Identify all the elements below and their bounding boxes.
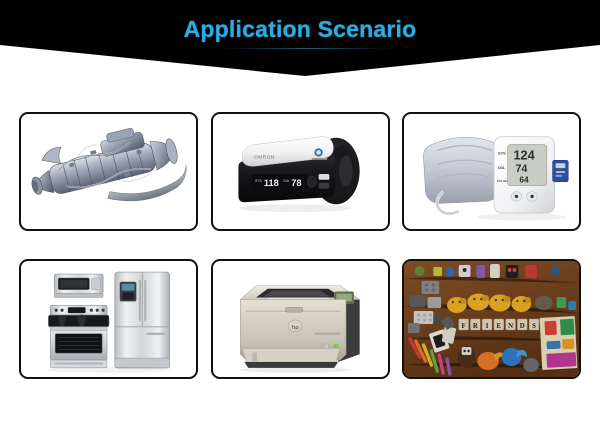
refrigerator [115,272,170,368]
cuff-diastolic-value: 74 [515,163,527,175]
cuff-systolic-value: 124 [513,148,534,162]
microwave [54,274,103,297]
cuff-pulse-value: 64 [519,175,529,185]
printer-front-door-handle[interactable] [285,307,303,312]
cuff-pulse-label: PULSE [497,179,507,183]
scenario-card-toys-and-games[interactable]: Toys and games [402,259,581,379]
omron-memory-button[interactable] [318,174,329,180]
arm-cuff-bp-monitor-image: SYS DIA PULSE 124 74 64 [404,114,579,229]
omron-sys-label: SYS [255,179,262,183]
scenario-card-kitchen-appliances[interactable]: Home appliances [19,259,198,379]
cuff-sys-label: SYS [498,150,506,155]
scenario-card-arm-cuff-monitor[interactable]: Digital arm cuff monitor [402,112,581,231]
title-underline-accent [222,48,394,49]
scenario-row-top: Gas turbine / aero engine [19,112,581,231]
hp-brand-label: hp [291,325,299,331]
cuff-side-button[interactable] [544,192,551,204]
cuff-dia-label: DIA [498,165,505,170]
kitchen-appliances-image [21,261,196,377]
omron-systolic-value: 118 [263,178,278,188]
omron-start-button[interactable] [307,176,316,187]
laser-printer-image: hp [213,261,388,377]
omron-dia-label: DIA [283,179,289,183]
scenario-card-laser-printer[interactable]: Laser printer [211,259,390,379]
gas-turbine-engine-image [21,114,196,229]
scenario-card-blood-pressure-monitor[interactable]: Blood pressure monitor [211,112,390,231]
omron-brand-label: OMRON [254,154,275,160]
scenario-grid: Gas turbine / aero engine [19,112,581,379]
scenario-row-bottom: Home appliances [19,259,581,379]
omron-secondary-button[interactable] [318,183,329,189]
omron-blood-pressure-monitor-image: OMRON SYS 118 DIA 78 [213,114,388,229]
toys-and-games-image: F R I E N D S [404,261,579,377]
omron-diastolic-value: 78 [291,178,301,188]
printer-tray-handle[interactable] [252,352,257,362]
scenario-card-gas-turbine-engine[interactable]: Gas turbine / aero engine [19,112,198,231]
range-oven [48,305,109,368]
page-title: Application Scenario [0,16,600,43]
